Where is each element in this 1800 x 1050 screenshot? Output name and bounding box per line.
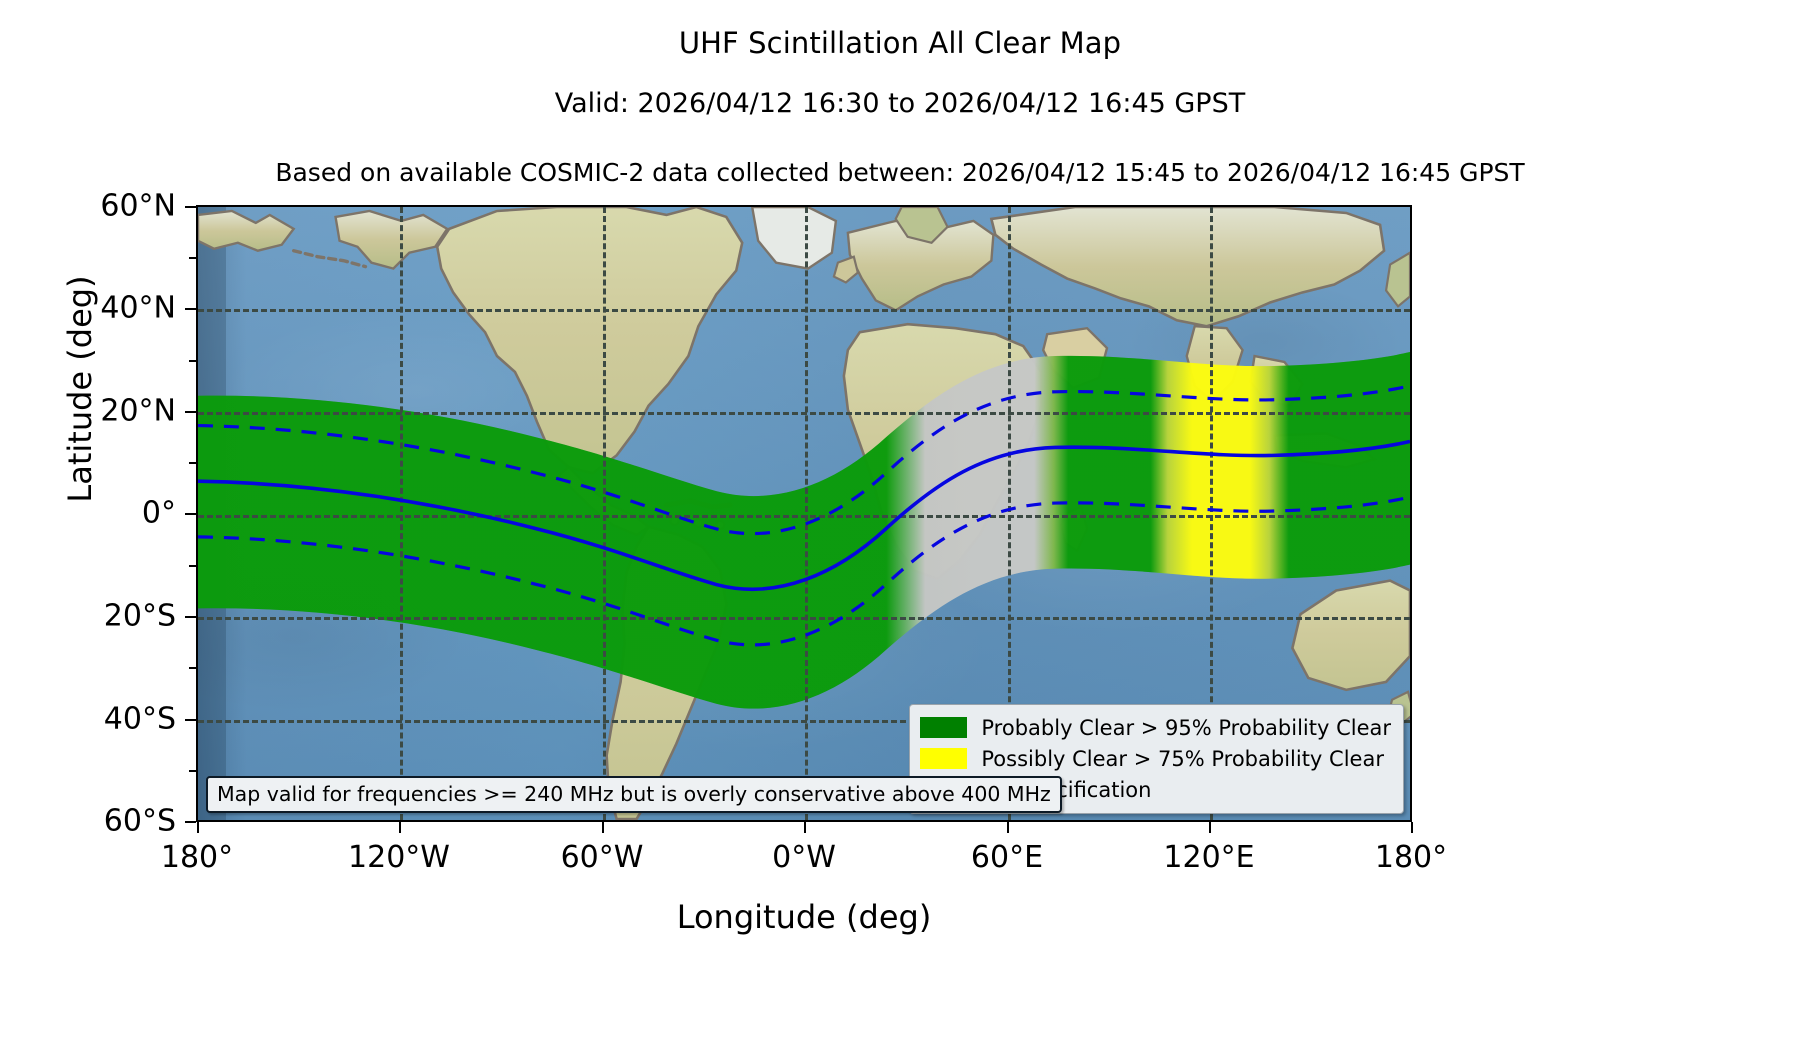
frequency-validity-note: Map valid for frequencies >= 240 MHz but… <box>206 776 1062 813</box>
y-tick-minor <box>189 257 196 259</box>
magnetic-equator-line <box>198 441 1410 589</box>
y-tick-label: 40°N <box>0 291 176 326</box>
legend-label-probably-clear: Probably Clear > 95% Probability Clear <box>981 716 1391 740</box>
y-tick-major <box>185 411 196 413</box>
x-tick <box>399 822 401 833</box>
x-tick-label: 60°E <box>971 840 1043 875</box>
x-tick <box>602 822 604 833</box>
y-tick-minor <box>189 462 196 464</box>
y-tick-major <box>185 308 196 310</box>
x-tick-label: 180° <box>161 840 233 875</box>
x-tick-label: 0°W <box>772 840 836 875</box>
legend-label-possibly-clear: Possibly Clear > 75% Probability Clear <box>981 747 1384 771</box>
y-tick-label: 60°S <box>0 804 176 839</box>
legend-swatch-possibly-clear <box>920 748 967 769</box>
x-tick-label: 180° <box>1375 840 1447 875</box>
y-tick-major <box>185 719 196 721</box>
lower-dashed-boundary <box>198 497 1410 645</box>
map-canvas: Probably Clear > 95% Probability Clear P… <box>198 207 1410 820</box>
x-tick-label: 120°W <box>348 840 450 875</box>
x-tick <box>197 822 199 833</box>
y-tick-major <box>185 206 196 208</box>
x-tick-label: 120°E <box>1163 840 1254 875</box>
x-tick <box>1209 822 1211 833</box>
data-basis-note: Based on available COSMIC-2 data collect… <box>0 158 1800 187</box>
y-tick-label: 20°S <box>0 599 176 634</box>
y-tick-major <box>185 513 196 515</box>
x-tick-label: 60°W <box>561 840 644 875</box>
scintillation-map-plot[interactable]: Probably Clear > 95% Probability Clear P… <box>196 205 1412 822</box>
y-tick-label: 0° <box>0 496 176 531</box>
y-tick-label: 20°N <box>0 394 176 429</box>
valid-period-subtitle: Valid: 2026/04/12 16:30 to 2026/04/12 16… <box>0 88 1800 119</box>
x-tick <box>1411 822 1413 833</box>
x-tick <box>804 822 806 833</box>
x-axis-label: Longitude (deg) <box>196 898 1412 936</box>
y-tick-minor <box>189 770 196 772</box>
y-tick-label: 60°N <box>0 189 176 224</box>
x-tick <box>1007 822 1009 833</box>
y-tick-label: 40°S <box>0 702 176 737</box>
legend-item: Probably Clear > 95% Probability Clear <box>920 712 1391 743</box>
legend-swatch-probably-clear <box>920 717 967 738</box>
legend-item: Possibly Clear > 75% Probability Clear <box>920 743 1391 774</box>
y-tick-minor <box>189 360 196 362</box>
y-tick-major <box>185 821 196 823</box>
y-tick-minor <box>189 667 196 669</box>
y-tick-minor <box>189 565 196 567</box>
upper-dashed-boundary <box>198 386 1410 534</box>
page-title: UHF Scintillation All Clear Map <box>0 26 1800 60</box>
y-tick-major <box>185 616 196 618</box>
title-block: UHF Scintillation All Clear Map Valid: 2… <box>0 0 1800 119</box>
